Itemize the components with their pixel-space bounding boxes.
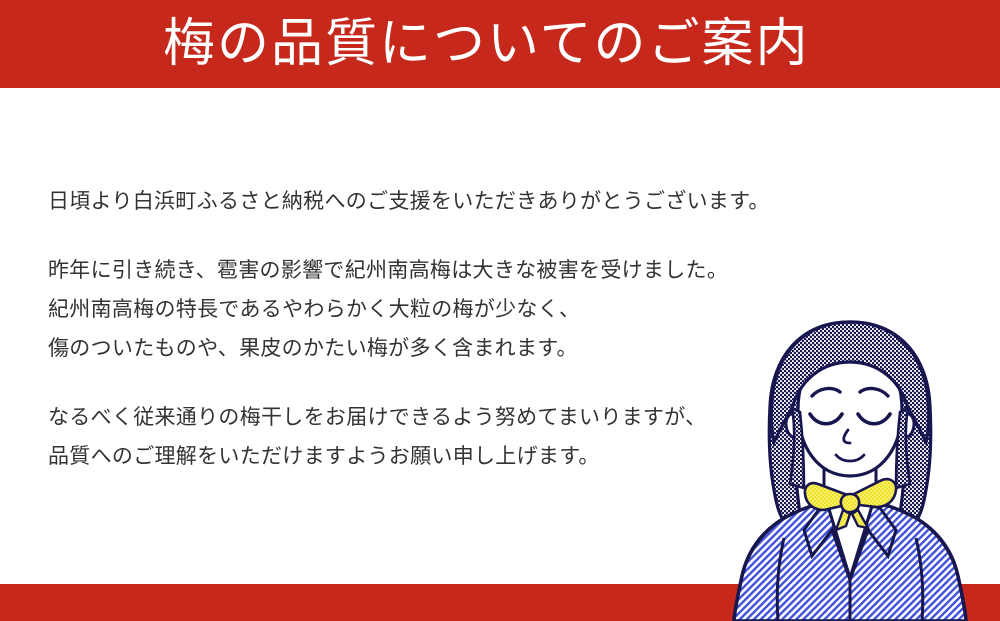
text-line: 傷のついたものや、果皮のかたい梅が多く含まれます。 [48, 329, 868, 368]
suit [734, 500, 966, 621]
notice-body: 日頃より白浜町ふるさと納税へのご支援をいただきありがとうございます。 昨年に引き… [48, 182, 868, 476]
text-line: 品質へのご理解をいただけますようお願い申し上げます。 [48, 437, 868, 476]
notice-page: 梅の品質についてのご案内 日頃より白浜町ふるさと納税へのご支援をいただきありがと… [0, 0, 1000, 621]
text-line: 紀州南高梅の特長であるやわらかく大粒の梅が少なく、 [48, 290, 868, 329]
header-banner: 梅の品質についてのご案内 [0, 0, 1000, 88]
text-line: なるべく従来通りの梅干しをお届けできるよう努めてまいりますが、 [48, 398, 868, 437]
paragraph-hail-damage-notice: 昨年に引き続き、雹害の影響で紀州南高梅は大きな被害を受けました。 紀州南高梅の特… [48, 251, 868, 368]
paragraph-request-for-understanding: なるべく従来通りの梅干しをお届けできるよう努めてまいりますが、 品質へのご理解を… [48, 398, 868, 476]
page-title: 梅の品質についてのご案内 [163, 8, 809, 80]
text-line: 日頃より白浜町ふるさと納税へのご支援をいただきありがとうございます。 [48, 182, 868, 221]
text-line: 昨年に引き続き、雹害の影響で紀州南高梅は大きな被害を受けました。 [48, 251, 868, 290]
paragraph-greeting: 日頃より白浜町ふるさと納税へのご支援をいただきありがとうございます。 [48, 182, 868, 221]
